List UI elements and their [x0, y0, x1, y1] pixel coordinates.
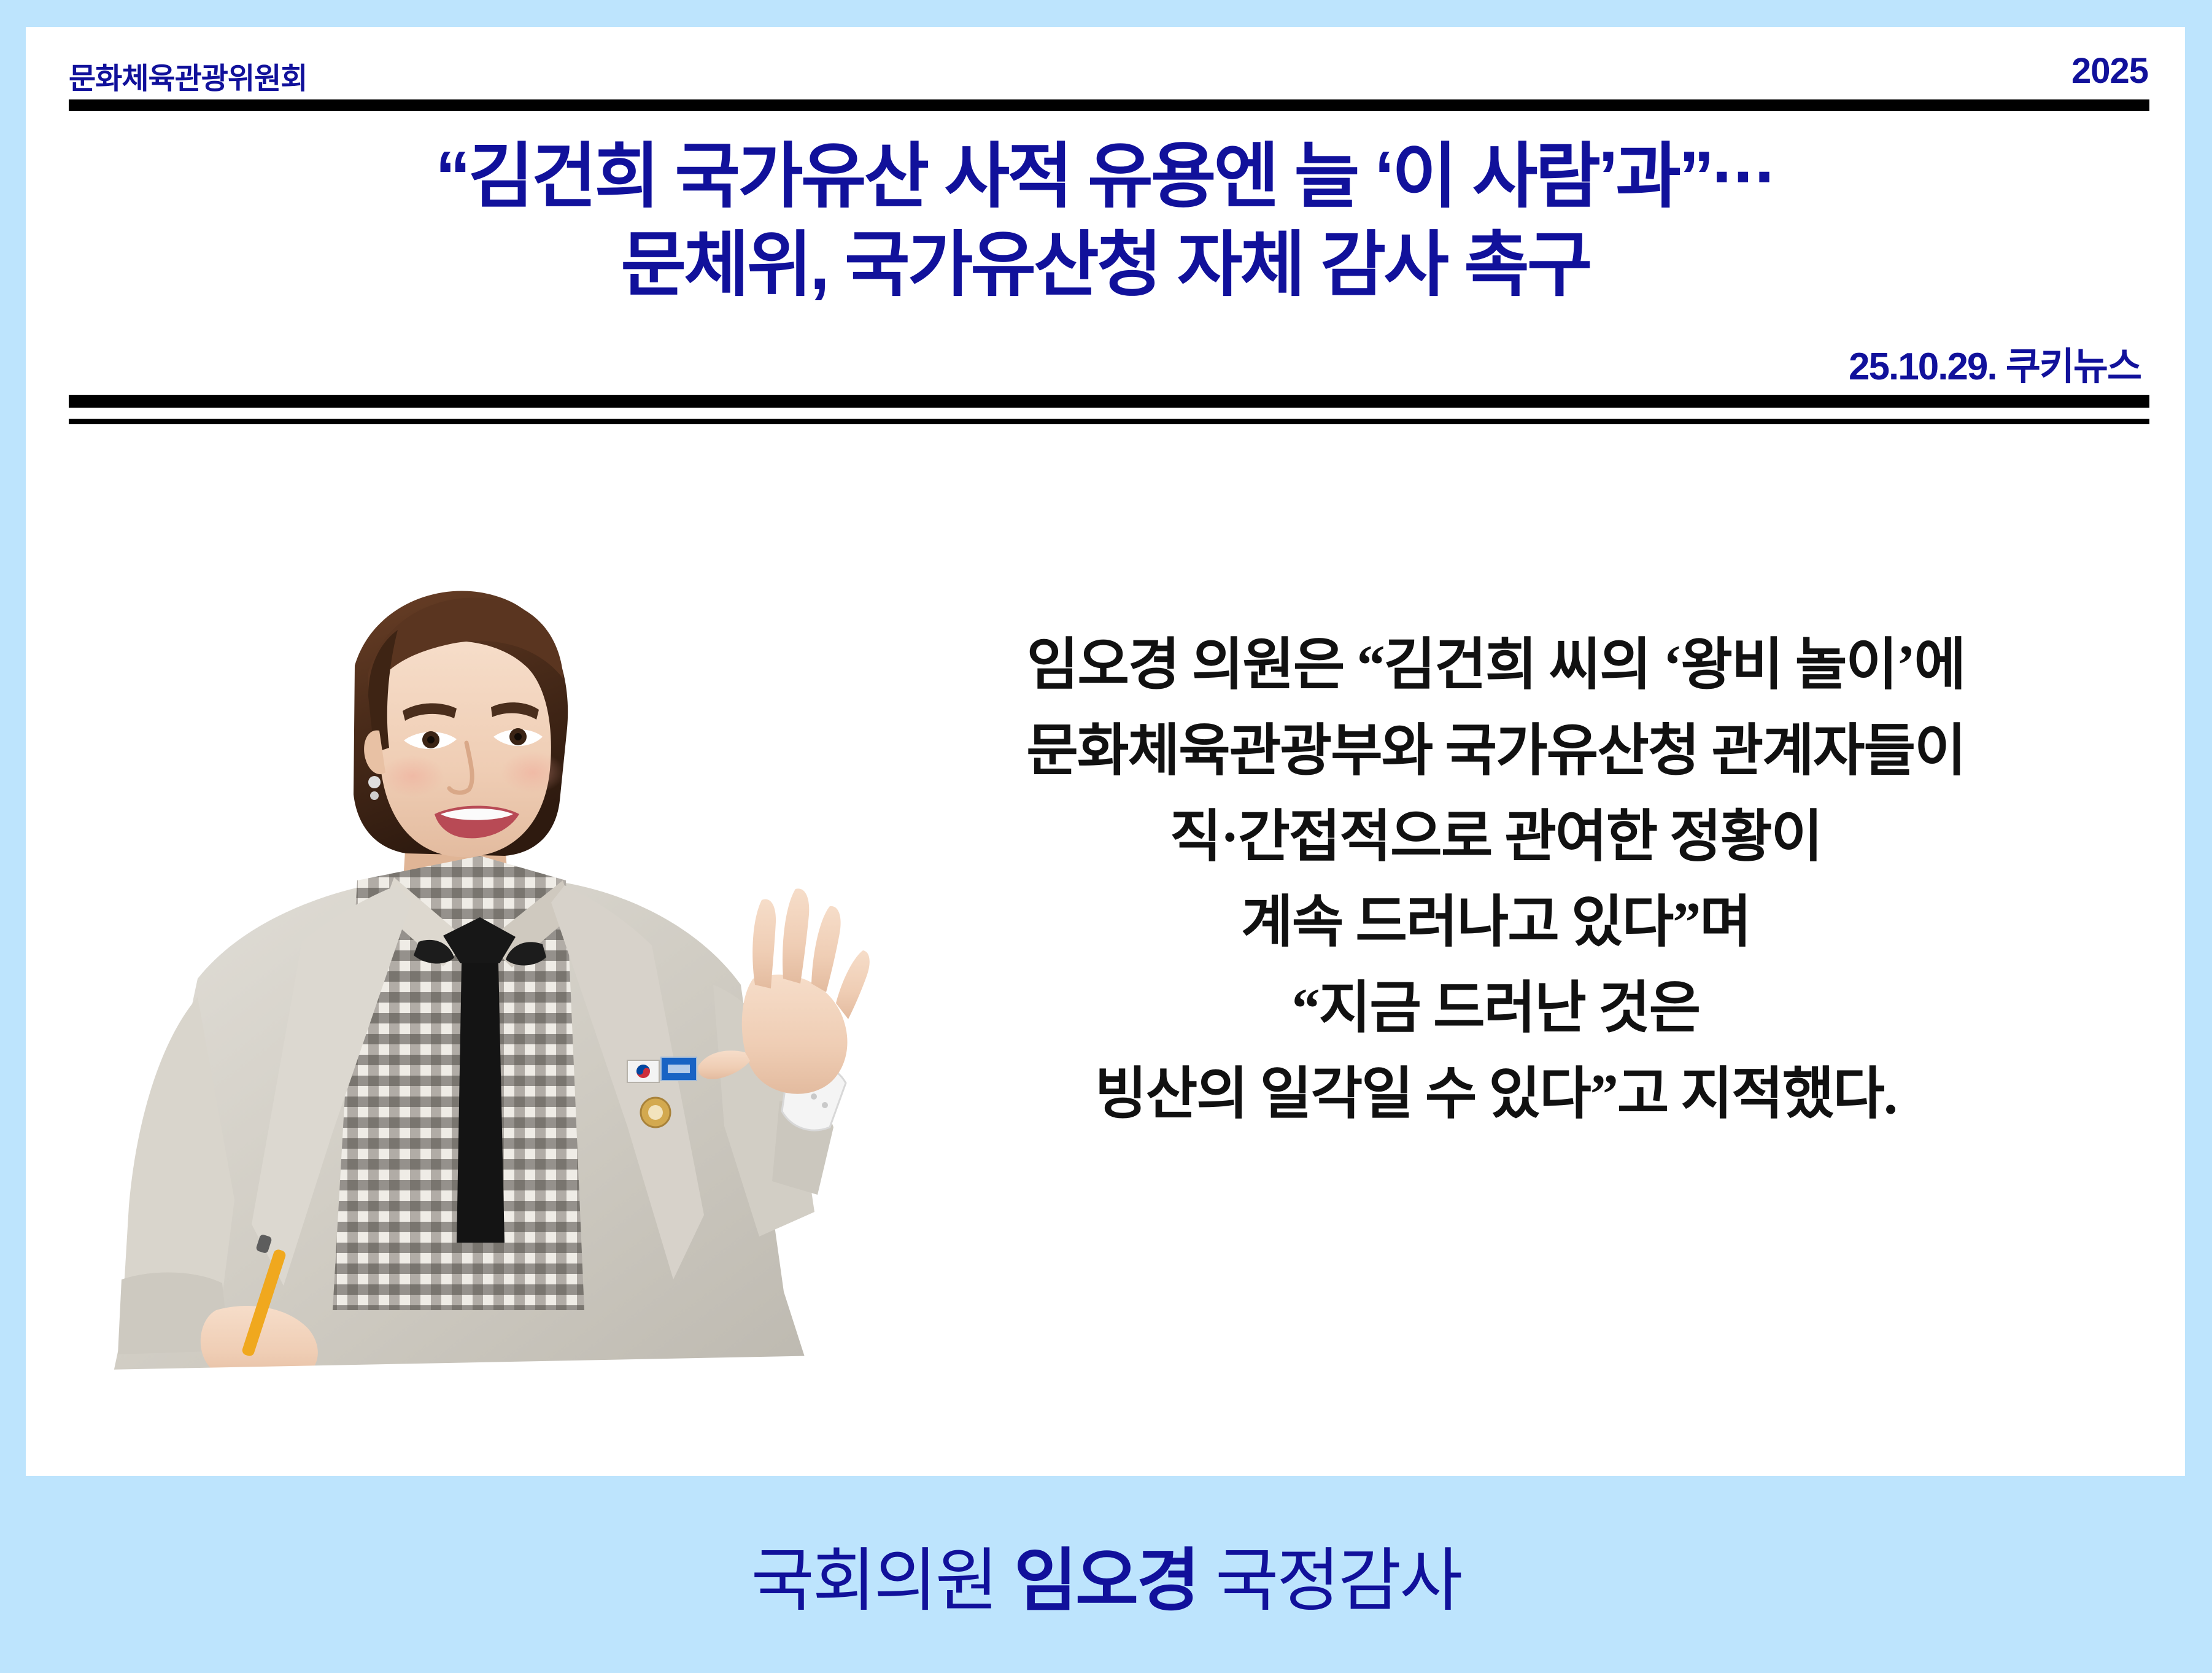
- header-rule-thick: [69, 395, 2149, 408]
- footer-suffix: 국정감사: [1198, 1542, 1461, 1619]
- quote-line-1: 임오경 의원은 “김건희 씨의 ‘왕비 놀이’에: [818, 623, 2174, 708]
- card-body: 임오경 의원은 “김건희 씨의 ‘왕비 놀이’에 문화체육관광부와 국가유산청 …: [26, 438, 2185, 1476]
- header-rule-top: [69, 99, 2149, 111]
- headline-line-1: “김건희 국가유산 사적 유용엔 늘 ‘이 사람’과”···: [81, 133, 2130, 221]
- quote-line-3: 직·간접적으로 관여한 정황이: [818, 794, 2174, 880]
- sawtooth-edge-decoration: [26, 27, 2185, 41]
- quote-line-2: 문화체육관광부와 국가유산청 관계자들이: [818, 708, 2174, 794]
- page-title: “김건희 국가유산 사적 유용엔 늘 ‘이 사람’과”··· 문체위, 국가유산…: [26, 133, 2185, 309]
- quote-text: 임오경 의원은 “김건희 씨의 ‘왕비 놀이’에 문화체육관광부와 국가유산청 …: [818, 623, 2174, 1138]
- year-label: 2025: [2071, 50, 2148, 91]
- headline-line-2: 문체위, 국가유산청 자체 감사 촉구: [81, 221, 2130, 309]
- quote-line-6: 빙산의 일각일 수 있다”고 지적했다.: [818, 1052, 2174, 1138]
- assembly-gold-badge: [641, 1098, 670, 1127]
- card-header: 문화체육관광위원회 2025 “김건희 국가유산 사적 유용엔 늘 ‘이 사람’…: [26, 41, 2185, 470]
- footer-caption: 국회의원 임오경 국정감사: [751, 1525, 1461, 1624]
- quote-line-5: “지금 드러난 것은: [818, 966, 2174, 1052]
- committee-label: 문화체육관광위원회: [69, 54, 307, 97]
- source-date-label: 25.10.29. 쿠키뉴스: [1849, 335, 2141, 390]
- korean-flag-pin: [627, 1060, 659, 1082]
- lawmaker-portrait: [26, 512, 885, 1476]
- footer-prefix: 국회의원: [751, 1542, 1014, 1619]
- quote-line-4: 계속 드러나고 있다”며: [818, 880, 2174, 966]
- footer-member-name: 임오경: [1014, 1542, 1198, 1619]
- blue-badge-pin: [661, 1057, 697, 1081]
- head: [354, 591, 568, 857]
- footer-bar: 국회의원 임오경 국정감사: [0, 1476, 2212, 1673]
- header-rule-thin: [69, 419, 2149, 424]
- news-card: 문화체육관광위원회 2025 “김건희 국가유산 사적 유용엔 늘 ‘이 사람’…: [26, 27, 2185, 1476]
